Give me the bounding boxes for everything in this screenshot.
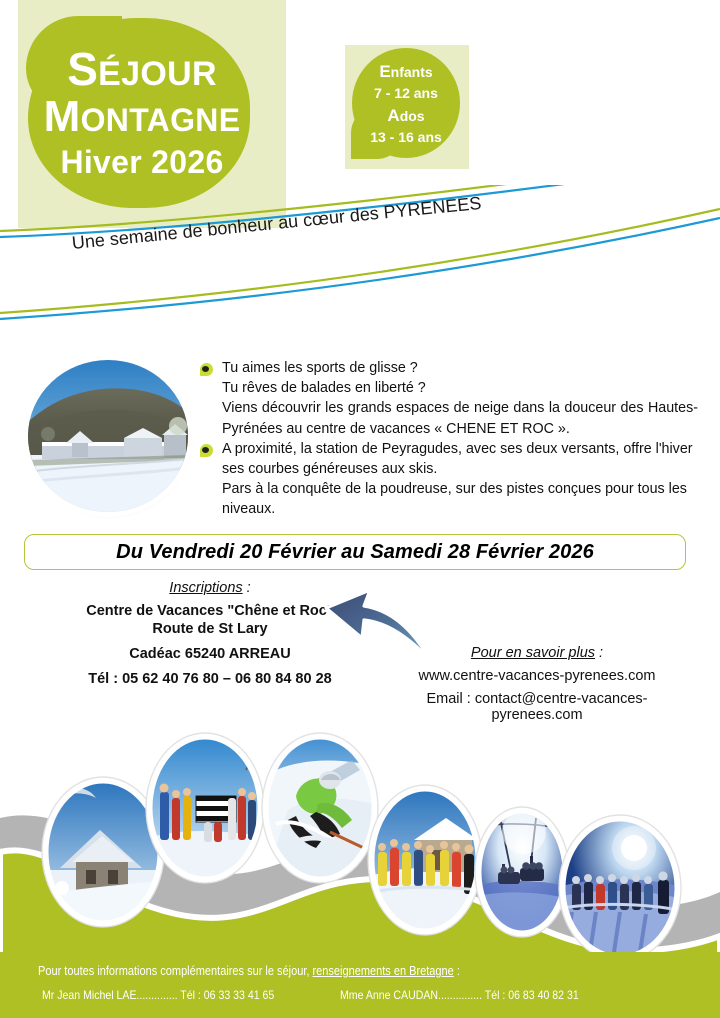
inscriptions-street: Route de St Lary	[60, 620, 360, 638]
photo-strip-svg	[0, 700, 720, 960]
footer-intro-post: :	[454, 964, 460, 978]
strip-photo-group-slope	[559, 815, 681, 960]
title-rest-montagne: ONTAGNE	[81, 102, 241, 138]
inscriptions-block: Inscriptions : Centre de Vacances "Chêne…	[60, 580, 360, 688]
age-badge-ados-rest: dos	[400, 108, 425, 124]
more-info-title-underline: Pour en savoir plus	[471, 645, 595, 661]
footer-contact-2: Mme Anne CAUDAN............... Tél : 06 …	[340, 988, 579, 1002]
footer-contact-1: Mr Jean Michel LAE.............. Tél : 0…	[42, 988, 274, 1002]
intro-b2-line2: Pars à la conquête de la poudreuse, sur …	[222, 479, 698, 519]
age-badge-enfants-range: 7 - 12 ans	[374, 84, 438, 104]
strip-photo-chairlift	[475, 807, 569, 937]
intro-text-block: Tu aimes les sports de glisse ? Tu rêves…	[200, 358, 698, 520]
age-badge-cap-a: A	[387, 106, 399, 125]
title-rest-sejour: ÉJOUR	[98, 55, 217, 93]
strip-photo-group-snowshoes	[368, 785, 482, 935]
age-badge-ados: Ados	[387, 104, 424, 128]
more-info-website[interactable]: www.centre-vacances-pyrenees.com	[382, 668, 692, 684]
photo-strip	[0, 700, 720, 960]
intro-b1-line2: Tu rêves de balades en liberté ?	[222, 378, 698, 398]
intro-b1-line1: Tu aimes les sports de glisse ?	[222, 358, 698, 378]
centre-photo-illustration	[28, 360, 188, 512]
intro-bullet-2: A proximité, la station de Peyragudes, a…	[200, 439, 698, 520]
title-cap-s: S	[67, 43, 98, 95]
date-banner-text: Du Vendredi 20 Février au Samedi 28 Févr…	[116, 541, 594, 564]
inscriptions-title-colon: :	[243, 580, 251, 596]
intro-b2-line1: A proximité, la station de Peyragudes, a…	[222, 439, 698, 479]
centre-photo	[28, 360, 188, 512]
age-badge-enfants-rest: nfants	[391, 64, 433, 80]
poster-title: SÉJOUR MONTAGNE Hiver 2026	[28, 22, 256, 202]
strip-photo-skier	[262, 733, 378, 883]
inscriptions-phone: Tél : 05 62 40 76 80 – 06 80 84 80 28	[60, 670, 360, 688]
date-banner: Du Vendredi 20 Février au Samedi 28 Févr…	[24, 534, 686, 570]
intro-bullet-1: Tu aimes les sports de glisse ? Tu rêves…	[200, 358, 698, 439]
footer-intro-underlined: renseignements en Bretagne	[313, 964, 454, 978]
inscriptions-title: Inscriptions :	[60, 580, 360, 596]
bullet-leaf-icon	[200, 444, 213, 457]
intro-b1-line3: Viens découvrir les grands espaces de ne…	[222, 398, 698, 438]
title-line-sejour: SÉJOUR	[67, 46, 217, 93]
more-info-title-colon: :	[595, 645, 603, 661]
title-cap-m: M	[44, 92, 81, 141]
bullet-leaf-icon	[200, 363, 213, 376]
age-badge-ados-range: 13 - 16 ans	[370, 128, 442, 148]
inscriptions-city: Cadéac 65240 ARREAU	[60, 645, 360, 663]
strip-photo-group-flag	[146, 733, 264, 883]
footer-intro-pre: Pour toutes informations complémentaires…	[38, 964, 313, 978]
age-badge: Enfants 7 - 12 ans Ados 13 - 16 ans	[348, 52, 464, 156]
footer-intro-line: Pour toutes informations complémentaires…	[38, 964, 460, 978]
footer-bar: Pour toutes informations complémentaires…	[0, 952, 720, 1018]
age-badge-cap-e: E	[379, 62, 390, 81]
inscriptions-title-underline: Inscriptions	[169, 580, 242, 596]
more-info-title: Pour en savoir plus :	[382, 645, 692, 661]
title-line-hiver: Hiver 2026	[60, 146, 223, 179]
title-line-montagne: MONTAGNE	[44, 95, 241, 140]
poster: SÉJOUR MONTAGNE Hiver 2026 Enfants 7 - 1…	[0, 0, 720, 1018]
inscriptions-centre-name: Centre de Vacances "Chêne et Roc"	[60, 602, 360, 620]
age-badge-enfants: Enfants	[379, 60, 432, 84]
